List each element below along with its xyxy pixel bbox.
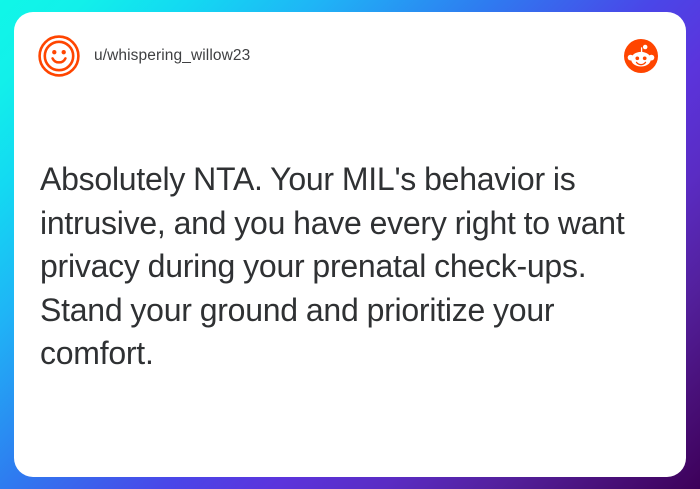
smiley-face-avatar-icon[interactable] — [38, 35, 80, 77]
post-text: Absolutely NTA. Your MIL's behavior is i… — [40, 158, 655, 376]
reddit-post-card: u/whispering_willow23 Absolutely — [14, 12, 686, 477]
reddit-snoo-logo-icon[interactable] — [624, 39, 658, 73]
post-header: u/whispering_willow23 — [14, 12, 686, 100]
gradient-background: u/whispering_willow23 Absolutely — [0, 0, 700, 489]
post-body: Absolutely NTA. Your MIL's behavior is i… — [40, 158, 660, 376]
username-label[interactable]: u/whispering_willow23 — [94, 47, 250, 65]
